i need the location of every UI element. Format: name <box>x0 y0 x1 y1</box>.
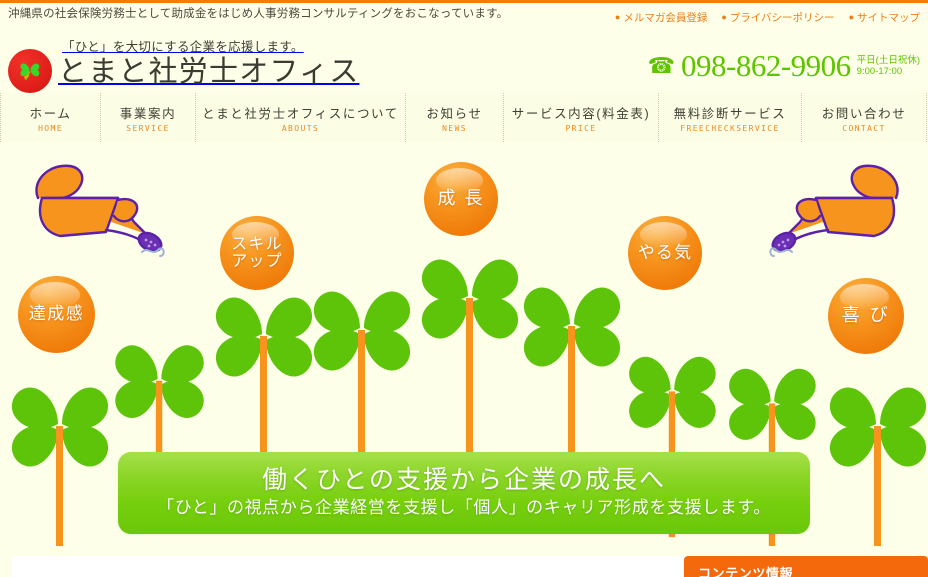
bullet-dot-icon: ● <box>849 13 854 22</box>
clover-plant-5 <box>414 232 526 467</box>
contact-phone-block: ☎ 098-862-9906 平日(土日祝休) 9:00-17:00 <box>648 51 920 81</box>
clover-plant-9 <box>822 360 928 546</box>
site-header: 沖縄県の社会保険労務士として助成金をはじめ人事労務コンサルティングをおこなってい… <box>0 3 928 93</box>
bubble-label: 喜 び <box>842 306 891 325</box>
tomato-clover-logo-icon <box>8 49 52 93</box>
watering-can-glyph-icon <box>22 160 172 260</box>
nav-item-abouts[interactable]: とまと社労士オフィスについて ABOUTS <box>196 93 406 142</box>
nav-label-en: NEWS <box>442 124 467 133</box>
utility-links: ● メルマガ会員登録 ● プライバシーポリシー ● サイトマップ <box>615 10 920 25</box>
telephone-icon: ☎ <box>648 55 675 77</box>
util-link-label: メルマガ会員登録 <box>623 10 707 25</box>
nav-label-ja: 無料診断サービス <box>674 103 787 122</box>
nav-label-en: SERVICE <box>126 124 170 133</box>
bullet-dot-icon: ● <box>615 13 620 22</box>
bubble-motivation: やる気 <box>628 216 702 290</box>
nav-item-news[interactable]: お知らせ NEWS <box>406 93 504 142</box>
bubble-label: 達成感 <box>29 305 85 323</box>
nav-label-ja: とまと社労士オフィスについて <box>202 103 399 122</box>
util-link-sitemap[interactable]: ● サイトマップ <box>849 10 920 25</box>
site-logo[interactable]: 「ひと」を大切にする企業を応援します。 とまと社労士オフィス <box>8 36 359 93</box>
hours-weekday-note: 平日(土日祝休) <box>857 55 920 66</box>
bubble-label: 成 長 <box>437 189 484 208</box>
logo-title: とまと社労士オフィス <box>58 56 359 88</box>
util-link-newsletter[interactable]: ● メルマガ会員登録 <box>615 10 707 25</box>
nav-label-ja: 事業案内 <box>120 103 176 122</box>
nav-item-home[interactable]: ホーム HOME <box>0 93 101 142</box>
clover-glyph-icon <box>15 55 45 86</box>
logo-subtitle: 「ひと」を大切にする企業を応援します。 <box>62 36 359 55</box>
nav-label-en: FREECHECKSERVICE <box>680 124 779 133</box>
bubble-achievement: 達成感 <box>18 276 95 353</box>
nav-label-ja: サービス内容(料金表) <box>512 103 650 122</box>
nav-label-ja: お問い合わせ <box>822 103 907 122</box>
clover-plant-1 <box>4 360 116 546</box>
bubble-joy: 喜 び <box>828 278 904 354</box>
watering-can-glyph-icon <box>762 160 912 260</box>
clover-plant-glyph-icon <box>822 360 928 546</box>
nav-label-ja: ホーム <box>30 103 72 122</box>
page-body-top: コンテンツ情報 <box>0 546 928 577</box>
nav-label-en: HOME <box>38 124 63 133</box>
util-link-label: サイトマップ <box>857 10 920 25</box>
hours-range: 9:00-17:00 <box>857 66 902 77</box>
nav-label-en: PRICE <box>565 124 596 133</box>
business-hours: 平日(土日祝休) 9:00-17:00 <box>857 55 920 77</box>
nav-label-ja: お知らせ <box>426 103 482 122</box>
nav-item-service[interactable]: 事業案内 SERVICE <box>101 93 196 142</box>
phone-number: 098-862-9906 <box>681 51 851 81</box>
bullet-dot-icon: ● <box>721 13 726 22</box>
nav-label-en: ABOUTS <box>282 124 319 133</box>
site-tagline: 沖縄県の社会保険労務士として助成金をはじめ人事労務コンサルティングをおこなってい… <box>8 7 568 22</box>
util-link-privacy[interactable]: ● プライバシーポリシー <box>721 10 834 25</box>
slogan-subline: 「ひと」の視点から企業経営を支援し「個人」のキャリア形成を支援します。 <box>157 496 771 520</box>
nav-item-contact[interactable]: お問い合わせ CONTACT <box>802 93 927 142</box>
bubble-skill-up: スキルアップ <box>220 216 294 290</box>
clover-plant-glyph-icon <box>414 232 526 462</box>
main-navigation: ホーム HOME 事業案内 SERVICE とまと社労士オフィスについて ABO… <box>0 93 928 142</box>
nav-item-price[interactable]: サービス内容(料金表) PRICE <box>504 93 659 142</box>
side-panel-header: コンテンツ情報 <box>684 556 928 577</box>
slogan-headline: 働くひとの支援から企業の成長へ <box>262 466 666 496</box>
bubble-label: やる気 <box>638 244 693 262</box>
watering-can-left <box>22 160 172 265</box>
hero-slogan-banner: 働くひとの支援から企業の成長へ 「ひと」の視点から企業経営を支援し「個人」のキャ… <box>118 452 810 534</box>
bubble-growth: 成 長 <box>424 162 498 236</box>
clover-plant-glyph-icon <box>4 360 116 546</box>
nav-label-en: CONTACT <box>842 124 886 133</box>
util-link-label: プライバシーポリシー <box>730 10 835 25</box>
side-panel-title: コンテンツ情報 <box>698 563 928 577</box>
nav-item-freecheckservice[interactable]: 無料診断サービス FREECHECKSERVICE <box>659 93 802 142</box>
bubble-label: スキルアップ <box>231 236 283 271</box>
hero-illustration: 達成感スキルアップ成 長やる気喜 び 働くひとの支援から企業の成長へ 「ひと」の… <box>0 142 928 546</box>
watering-can-right <box>762 160 912 265</box>
